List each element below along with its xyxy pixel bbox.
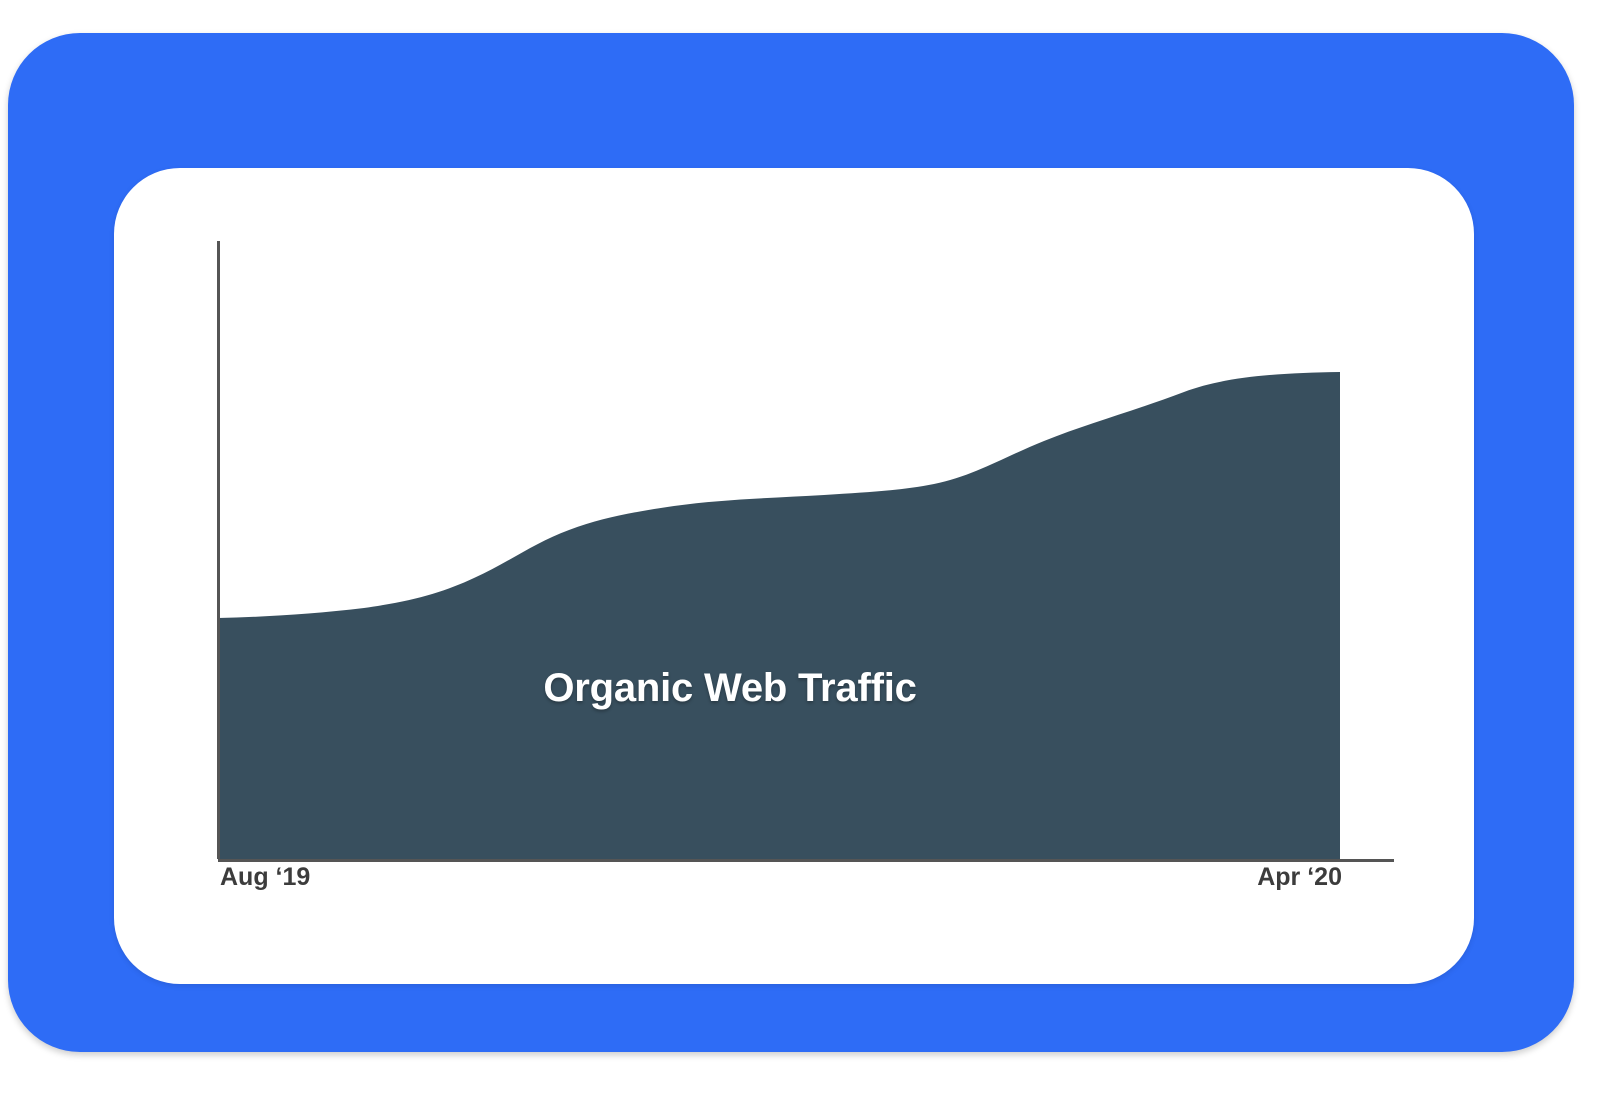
area-chart-svg[interactable]	[114, 168, 1474, 984]
chart-card: Organic Web Traffic Aug ‘19 Apr ‘20	[114, 168, 1474, 984]
area-series-organic-web-traffic	[218, 372, 1340, 859]
x-axis-label-end: Apr ‘20	[1142, 863, 1342, 892]
screenshot-stage: Organic Web Traffic Aug ‘19 Apr ‘20	[0, 0, 1600, 1093]
area-chart[interactable]: Organic Web Traffic Aug ‘19 Apr ‘20	[114, 168, 1474, 984]
blue-outer-frame: Organic Web Traffic Aug ‘19 Apr ‘20	[8, 33, 1574, 1052]
x-axis-label-start: Aug ‘19	[220, 863, 310, 892]
